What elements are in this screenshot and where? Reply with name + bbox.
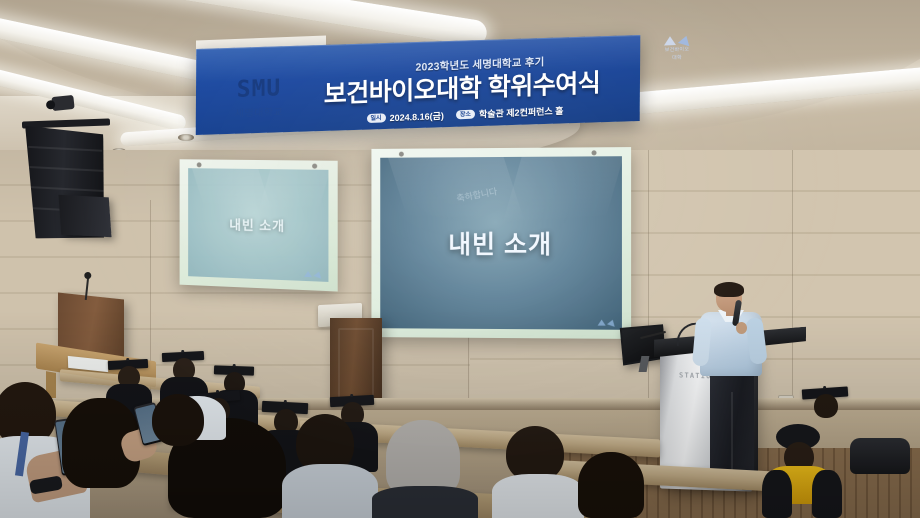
- audience-head: [152, 394, 204, 446]
- ceiling-camera: [51, 95, 74, 111]
- slide-title-left: 내빈 소개: [229, 214, 285, 234]
- presenter-leg-split: [731, 392, 733, 478]
- slide-footer-logo-left: [304, 271, 322, 278]
- presenter-hair: [714, 282, 744, 297]
- downlight: [178, 134, 194, 141]
- screen-mount: [399, 152, 404, 157]
- corner-logo-line1: 보건바이오: [665, 45, 690, 53]
- university-logo-mark: SMU: [216, 76, 302, 102]
- academic-gown: [812, 470, 842, 518]
- academic-gown: [762, 470, 792, 518]
- screen-mount: [197, 162, 202, 167]
- photo-scene: SMU 세명대학교 2023학년도 세명대학교 후기 보건바이오대학 학위수여식…: [0, 0, 920, 518]
- projection-screen-left: 내빈 소개: [180, 159, 338, 291]
- banner-corner-logo: 보건바이오 대학: [640, 29, 714, 68]
- triangle-logo-icon: [664, 35, 691, 45]
- audience-hair-grey: [386, 420, 460, 496]
- audience-shoulders: [372, 486, 478, 518]
- presenter-hand: [736, 322, 747, 334]
- audience-shirt: [282, 464, 378, 518]
- graduate-head: [814, 394, 838, 418]
- university-logo: SMU 세명대학교: [216, 76, 302, 120]
- projection-screen-right: 축하합니다 내빈 소개: [371, 147, 631, 339]
- place-chip: 장소: [456, 110, 475, 120]
- secondary-speaker: [58, 195, 111, 238]
- audience-head: [578, 452, 644, 518]
- screen-right-content: 축하합니다 내빈 소개: [380, 156, 622, 330]
- screen-left-content: 내빈 소개: [188, 168, 328, 282]
- slide-footer-logo-right: [598, 320, 616, 326]
- screen-mount: [591, 150, 596, 155]
- date-chip: 일시: [367, 113, 386, 123]
- bag-on-bench: [850, 438, 910, 474]
- audience-shirt: [492, 474, 584, 518]
- screen-mount: [312, 164, 317, 169]
- corner-logo-line2: 대학: [672, 53, 682, 60]
- banner-date-text: 2024.8.16(금): [390, 109, 444, 124]
- slide-decoration-text: 축하합니다: [456, 184, 499, 204]
- slide-title-right: 내빈 소개: [448, 225, 552, 261]
